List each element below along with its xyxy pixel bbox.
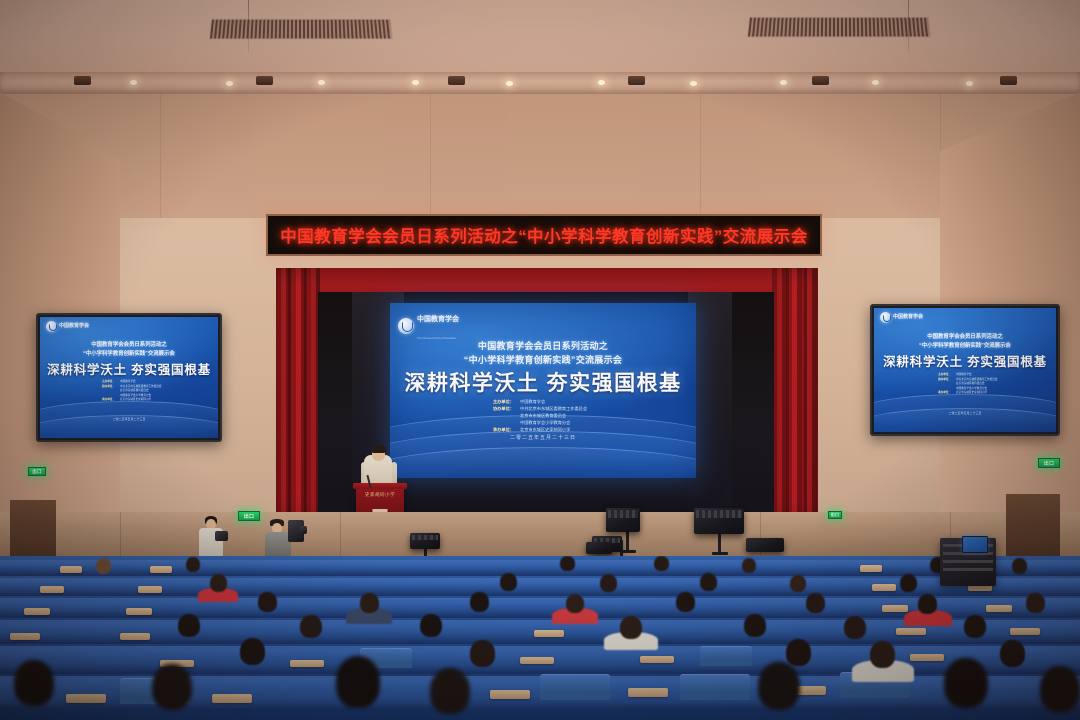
organizer-row: 承办单位： 北京市东城区史家胡同小学 [493,427,587,433]
seat-armrest [520,657,554,664]
audience-head [420,614,442,637]
monitor-organizer-list: 主办单位： 中国教育学会 协办单位： 中共北京市东城区委教育工作委员会 北京市东… [102,379,162,401]
organizer-row: 中国教育学会小学教育分会 [102,393,162,397]
society-emblem-icon [398,318,414,334]
monitor-date: 二零二五年五月二十三日 [40,417,218,421]
organizer-value: 北京市东城区教育委员会 [520,413,566,419]
audience-head [210,574,227,592]
seat-armrest [860,565,882,572]
exit-sign-house-left: 出口 [28,467,46,476]
led-banner-text: 中国教育学会会员日系列活动之“中小学科学教育创新实践”交流展示会 [280,223,808,247]
audience-head [676,592,695,612]
seat-armrest [640,656,674,663]
left-side-wall [0,92,120,512]
speaker-grille [412,535,438,540]
organizer-value: 中国教育学会 [956,372,972,376]
monitor-organizer-list: 主办单位： 中国教育学会 协办单位： 中共北京市东城区委教育工作委员会 北京市东… [938,372,998,394]
exit-sign-left: 出口 [238,511,260,521]
audience-head [790,575,806,592]
ceiling-downlight [872,80,879,85]
audience-head [300,615,322,638]
audience-head [560,556,575,571]
side-door-left[interactable] [10,500,56,562]
ceiling-spotlight [628,76,645,85]
audience-head [654,556,669,571]
camera-lens-icon [300,526,307,534]
organizer-row: 中国教育学会小学教育分会 [938,386,998,390]
organizer-value: 中国教育学会小学教育分会 [120,393,151,397]
audience-head [258,592,277,612]
seat-armrest [896,628,926,635]
audience-head [870,641,895,668]
seat-armrest [150,566,172,573]
exit-sign-house-right: 出口 [828,511,842,519]
audience-head [1000,640,1025,667]
seat-armrest [986,605,1012,612]
rack-panel-line [943,560,993,563]
organizer-value: 中国教育学会 [120,379,136,383]
led-banner: 中国教育学会会员日系列活动之“中小学科学教育创新实践”交流展示会 [266,214,822,256]
organizer-key: 承办单位： [493,427,517,433]
seat-armrest [534,630,564,637]
audience-head [1040,666,1080,712]
organizer-row: 协办单位： 中共北京市东城区委教育工作委员会 [493,406,587,412]
seat-armrest [212,694,252,703]
organizer-key: 主办单位： [938,372,953,376]
society-logo: 中国教育学会 [880,312,923,323]
rack-panel-line [943,568,993,571]
organizer-key: 协办单位： [938,377,953,381]
video-preview-monitor [962,536,988,553]
ceiling-wire-left [248,0,249,52]
stage-floor-monitor [410,533,440,549]
ceiling-downlight [690,81,697,86]
organizer-value: 中共北京市东城区委教育工作委员会 [520,406,587,412]
audience-head [806,593,825,613]
stage-floor-monitor [606,508,640,532]
ceiling-spotlight [1000,76,1017,85]
screen-subtitle-line2: “中小学科学教育创新实践”交流展示会 [390,353,696,366]
seat-armrest [126,608,152,615]
audience-head [360,593,379,613]
seat-row[interactable] [0,578,1080,596]
stage-equipment-case [746,538,784,552]
audience-head [178,614,200,637]
audience-head [900,574,917,592]
organizer-value: 北京市东城区教育委员会 [120,388,149,392]
organizer-value: 中国教育学会小学教育分会 [520,420,570,426]
audience-head [1026,593,1045,613]
organizer-row: 北京市东城区教育委员会 [493,413,587,419]
ceiling-spotlight [812,76,829,85]
side-monitor-left: 中国教育学会 中国教育学会会员日系列活动之 “中小学科学教育创新实践”交流展示会… [36,313,222,442]
ceiling-vent-left [209,19,393,40]
main-projection-screen: 中国教育学会 The Chinese Society of Education … [390,303,696,478]
ceiling-downlight [412,80,419,85]
stage-equipment-case [586,542,612,554]
audience-head [700,573,717,591]
ceiling-wire-right [908,0,909,52]
seat-armrest [490,690,530,699]
audience-head [944,658,988,708]
podium-front-text: 史家胡同小学 [356,492,404,498]
side-door-right[interactable] [1006,494,1060,562]
ceiling-spotlight [256,76,273,85]
audience-head [844,616,866,639]
side-monitor-left-display: 中国教育学会 中国教育学会会员日系列活动之 “中小学科学教育创新实践”交流展示会… [40,317,218,438]
seat-armrest [290,660,324,667]
organizer-key: 协办单位： [493,406,517,412]
society-logo: 中国教育学会 [46,321,89,332]
speaker-grille [608,510,638,518]
audience-head [786,639,811,666]
ceiling-downlight [506,81,513,86]
curtain-fold [288,268,291,520]
organizer-row: 协办单位： 中共北京市东城区委教育工作委员会 [102,384,162,388]
camera-icon [215,531,228,541]
curtain-fold [786,268,789,520]
speaker-hair [371,445,386,453]
organizer-row: 北京市东城区教育委员会 [938,381,998,385]
wall-panel-seam [700,94,701,218]
wall-panel-seam [160,94,161,218]
audience-head [964,615,986,638]
organizer-value: 北京市东城区史家胡同小学 [956,390,987,394]
monitor-subtitle-line2: “中小学科学教育创新实践”交流展示会 [874,341,1056,349]
society-emblem-icon [46,321,57,332]
monitor-headline: 深耕科学沃土 夯实强国根基 [874,351,1056,370]
audience-head [152,664,192,710]
organizer-row: 主办单位： 中国教育学会 [493,399,587,405]
audience-head [500,573,517,591]
ceiling-downlight [130,80,137,85]
audience-head [744,614,766,637]
organizer-value: 中共北京市东城区委教育工作委员会 [956,377,998,381]
organizer-row: 协办单位： 中共北京市东城区委教育工作委员会 [938,377,998,381]
organizer-value: 中国教育学会小学教育分会 [956,386,987,390]
audience-head [186,557,200,572]
screen-subtitle-line1: 中国教育学会会员日系列活动之 [390,339,696,352]
audience-head [430,668,470,714]
speaker-stand-base [712,552,728,555]
ceiling-downlight [780,80,787,85]
organizer-row: 北京市东城区教育委员会 [102,388,162,392]
side-monitor-right-display: 中国教育学会 中国教育学会会员日系列活动之 “中小学科学教育创新实践”交流展示会… [874,308,1056,432]
speaker-grille [696,510,742,518]
society-logo-cn: 中国教育学会 [893,315,923,320]
ceiling-downlight [226,81,233,86]
ceiling-vent-right [747,17,931,38]
exit-sign-right: 出口 [1038,458,1060,468]
audience-head [620,616,642,639]
podium-lectern-top [353,483,407,489]
organizer-row: 中国教育学会小学教育分会 [493,420,587,426]
seat-armrest [872,584,896,591]
wall-panel-seam [430,94,431,218]
auditorium-scene: 中国教育学会会员日系列活动之“中小学科学教育创新实践”交流展示会 中国教育学会 … [0,0,1080,720]
organizer-row: 承办单位： 北京市东城区史家胡同小学 [102,397,162,401]
audience-head [600,574,617,592]
organizer-key: 主办单位： [102,379,117,383]
upper-wall-panel [0,94,1080,218]
organizer-value: 北京市东城区史家胡同小学 [520,427,570,433]
organizer-row: 主办单位： 中国教育学会 [938,372,998,376]
seat-armrest [60,566,82,573]
organizer-key: 主办单位： [493,399,517,405]
seat-back[interactable] [540,674,610,700]
audience-head [758,662,800,710]
stage-floor-monitor [694,508,744,534]
society-logo-cn: 中国教育学会 [59,324,89,329]
seat-back[interactable] [700,646,752,666]
stage-curtain-left [276,268,320,520]
organizer-row: 承办单位： 北京市东城区史家胡同小学 [938,390,998,394]
monitor-headline: 深耕科学沃土 夯实强国根基 [40,359,218,378]
speaker-stand [626,530,629,552]
seat-back[interactable] [680,674,750,700]
audience-head [470,640,495,667]
ceiling [0,0,1080,72]
audience-head [918,594,937,614]
audience-head [470,592,489,612]
ceiling-spotlight [74,76,91,85]
audience-head [14,660,54,706]
seat-armrest [10,633,40,640]
seat-armrest [24,608,50,615]
seat-armrest [66,694,106,703]
audience-seating [0,556,1080,720]
audience-head [336,656,380,708]
monitor-subtitle-line1: 中国教育学会会员日系列活动之 [40,340,218,348]
monitor-subtitle-line1: 中国教育学会会员日系列活动之 [874,332,1056,340]
side-monitor-right: 中国教育学会 中国教育学会会员日系列活动之 “中小学科学教育创新实践”交流展示会… [870,304,1060,436]
organizer-row: 主办单位： 中国教育学会 [102,379,162,383]
ceiling-soffit [0,72,1080,94]
ceiling-downlight [598,80,605,85]
seat-armrest [628,688,668,697]
screen-wave-decoration [390,447,696,478]
ceiling-spotlight [448,76,465,85]
ceiling-downlight [966,81,973,86]
curtain-fold [804,268,807,520]
organizer-key: 承办单位： [102,397,117,401]
society-logo-cn: 中国教育学会 [417,316,459,323]
seat-armrest [120,633,150,640]
audience-head [96,558,111,574]
monitor-subtitle-line2: “中小学科学教育创新实践”交流展示会 [40,349,218,357]
ceiling-downlight [318,80,325,85]
organizer-key: 承办单位： [938,390,953,394]
monitor-date: 二零二五年五月二十三日 [874,411,1056,415]
society-emblem-icon [880,312,891,323]
organizer-value: 北京市东城区教育委员会 [956,381,985,385]
right-side-wall [940,92,1080,512]
audience-head [566,594,584,613]
seat-armrest [138,586,162,593]
organizer-value: 北京市东城区史家胡同小学 [120,397,151,401]
organizer-value: 中共北京市东城区委教育工作委员会 [120,384,162,388]
curtain-fold [304,268,307,520]
screen-headline: 深耕科学沃土 夯实强国根基 [390,367,696,397]
audience-head [1012,558,1027,574]
screen-organizer-list: 主办单位： 中国教育学会 协办单位： 中共北京市东城区委教育工作委员会 北京市东… [493,399,587,433]
stage-curtain-right [772,268,818,520]
seat-armrest [40,586,64,593]
audience-head [742,558,756,573]
organizer-value: 中国教育学会 [520,399,545,405]
seat-armrest [882,605,908,612]
seat-armrest [1010,628,1040,635]
seat-armrest [910,654,944,661]
screen-date: 二零二五年五月二十三日 [390,434,696,441]
audience-head [240,638,265,665]
organizer-key: 协办单位： [102,384,117,388]
